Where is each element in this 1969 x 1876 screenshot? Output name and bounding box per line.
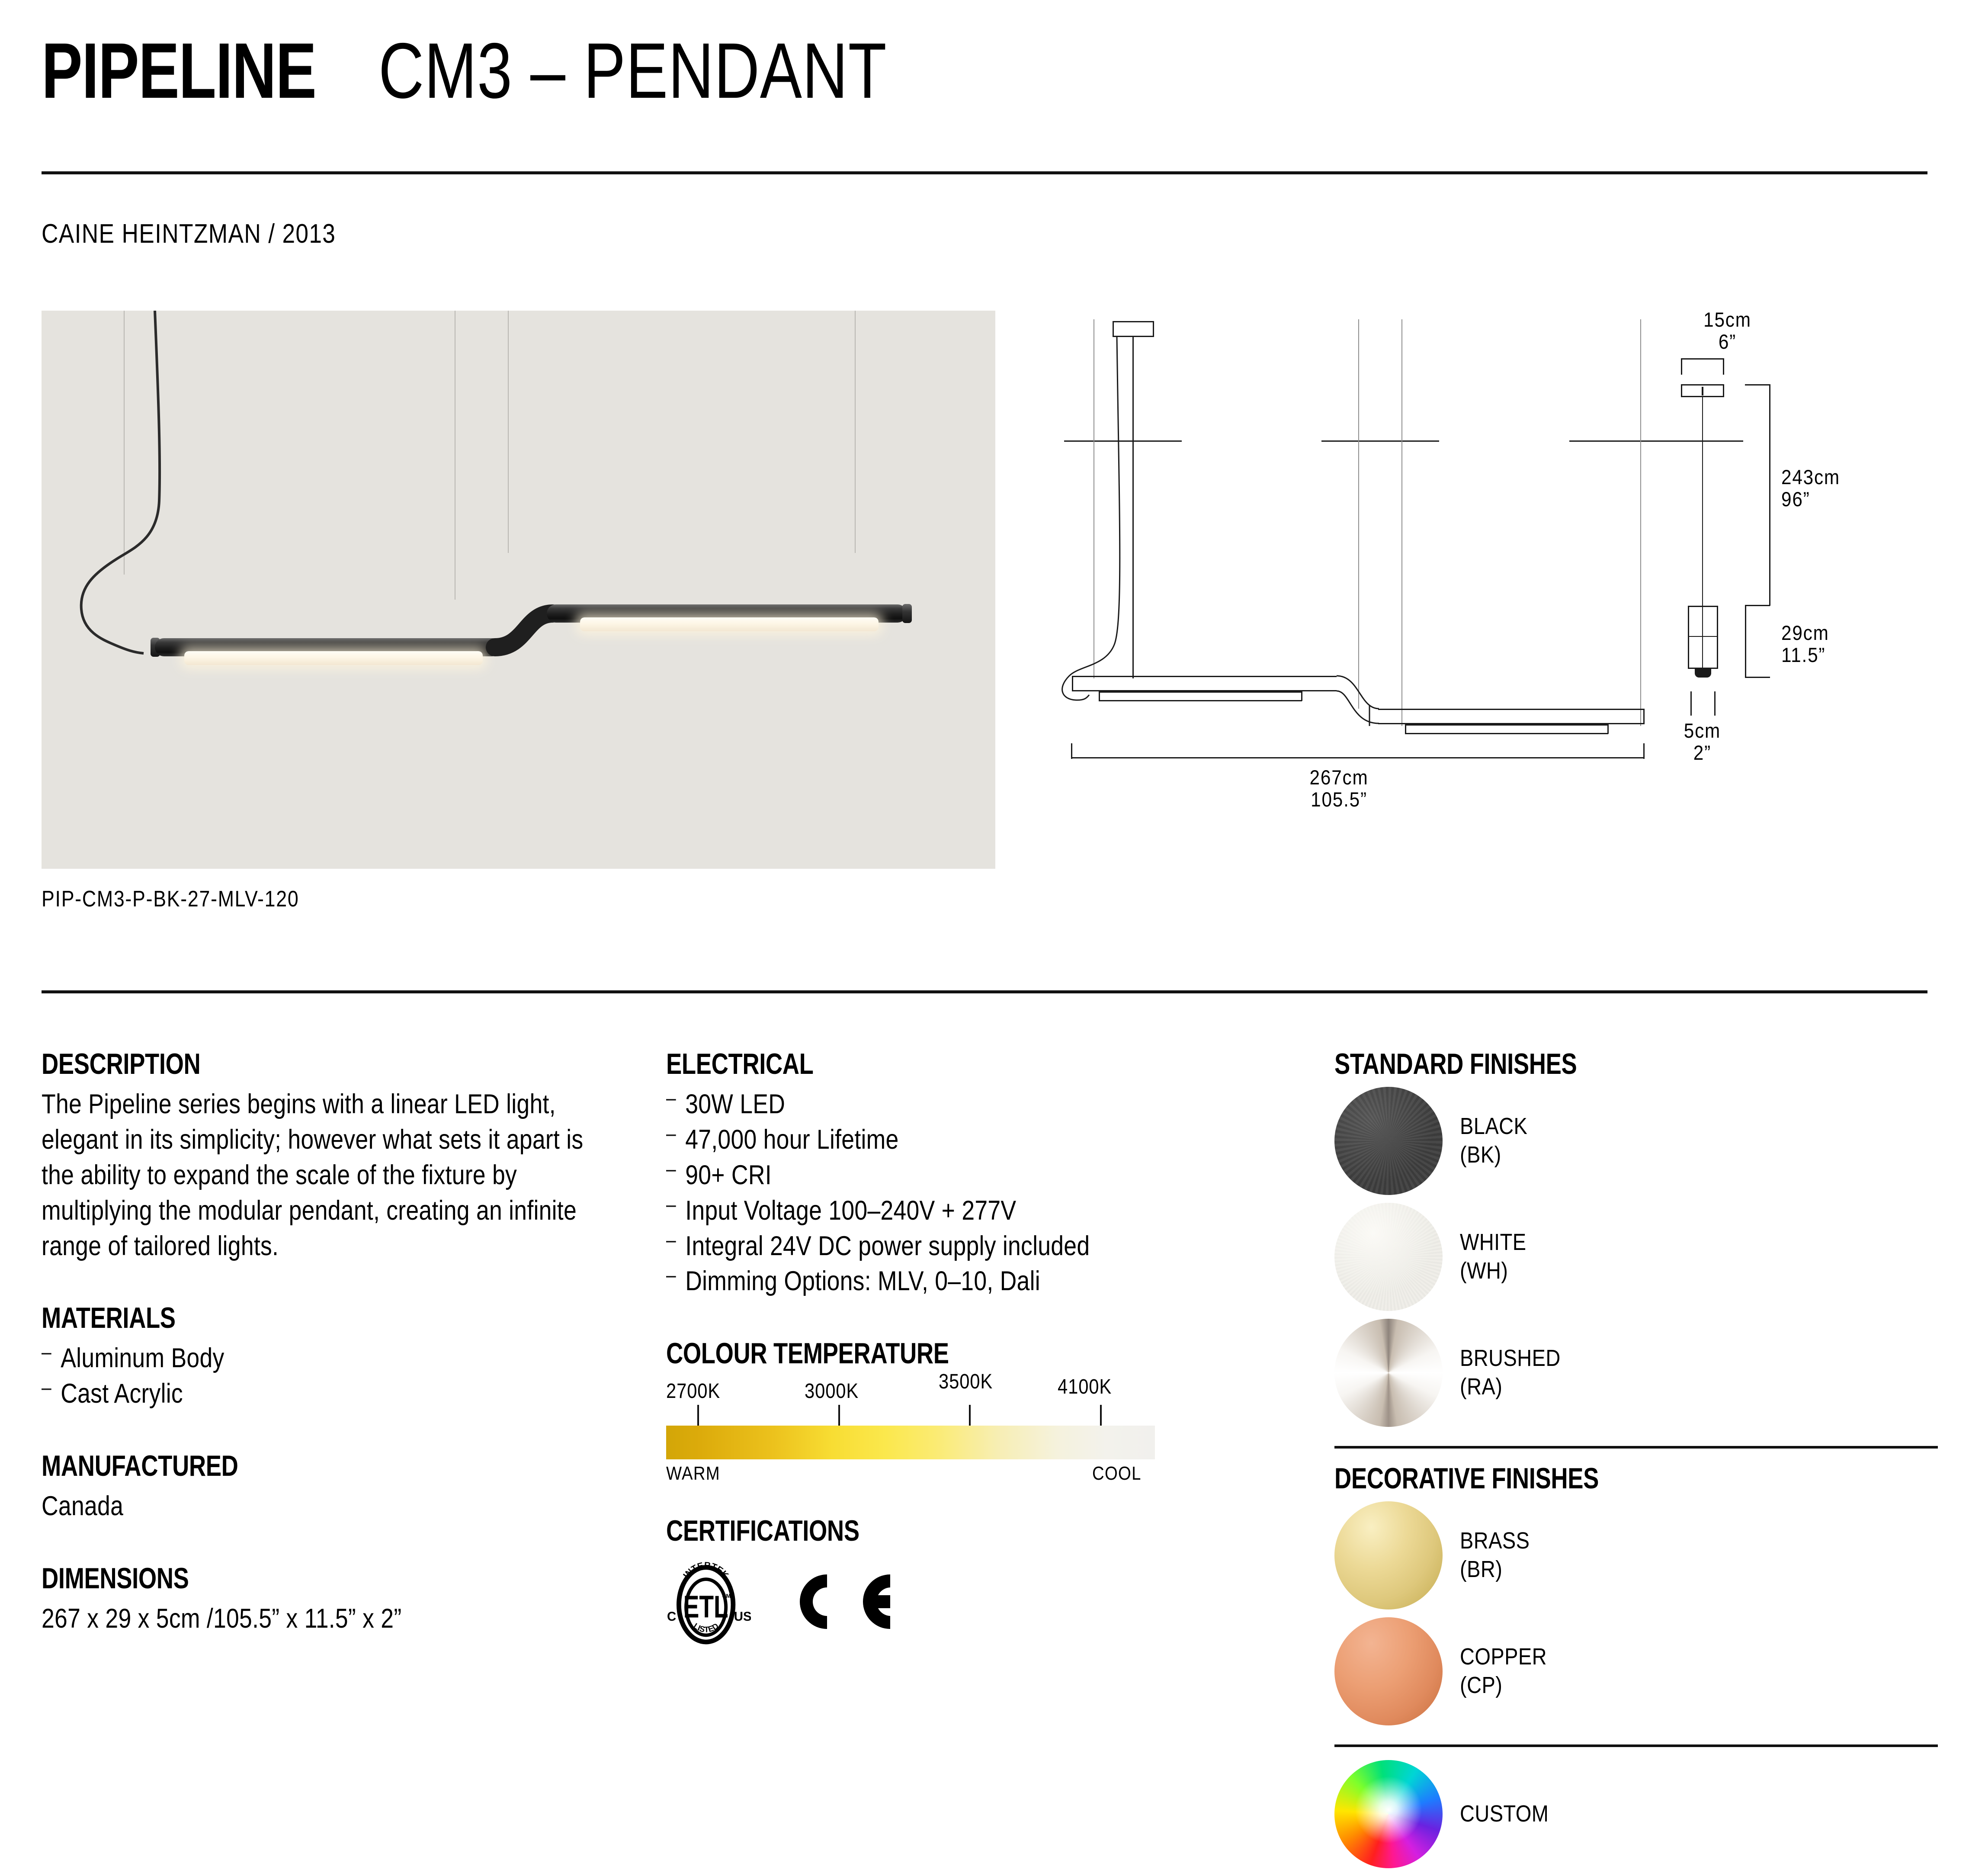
product-model-name: CM3 – PENDANT [378,25,887,116]
finish-swatch-brass[interactable]: BRASS (BR) [1334,1501,1637,1609]
finish-label: BRUSHED (RA) [1460,1344,1561,1401]
colour-temperature-labels: 2700K 3000K 3500K 4100K [666,1376,1155,1403]
finish-label: BLACK (BK) [1460,1112,1527,1169]
ce-mark-icon [781,1569,898,1634]
manufactured-heading: MANUFACTURED [42,1449,505,1483]
dimension-label-depth: 5cm 2” [1684,720,1721,764]
finish-swatch-black[interactable]: BLACK (BK) [1334,1087,1637,1195]
diffuser-outline-right [1405,733,1608,734]
custom-divider [1334,1744,1938,1747]
warm-label: WARM [666,1463,720,1484]
standard-finishes-heading: STANDARD FINISHES [1334,1047,1817,1081]
colour-temperature-heading: COLOUR TEMPERATURE [666,1336,1161,1370]
swatch-brushed-icon [1334,1319,1443,1427]
fixture-outline-side [1688,636,1718,637]
colour-temperature-scale: 2700K 3000K 3500K 4100K WARM COOL [666,1376,1155,1490]
ct-label: 4100K [1058,1375,1112,1399]
dimension-label-canopy: 15cm 6” [1703,309,1751,353]
finish-label: COPPER (CP) [1460,1643,1547,1700]
electrical-heading: ELECTRICAL [666,1047,1161,1081]
header-divider [42,171,1927,174]
colour-temperature-gradient-bar [666,1426,1155,1459]
fixture-outline-right [1643,709,1645,724]
column-finishes: STANDARD FINISHES BLACK (BK) WHITE (WH) [1334,1047,1938,1876]
dimension-tick [1714,691,1716,716]
materials-list: Aluminum Body Cast Acrylic [42,1341,621,1412]
dimension-tick [1745,677,1770,678]
fixture-outline-side [1688,606,1689,668]
fixture-outline-side [1695,669,1711,678]
fixture-outline-side [1688,606,1718,607]
list-item: 47,000 hour Lifetime [666,1122,1304,1158]
dimension-line-drop [1769,384,1770,606]
dimensions-heading: DIMENSIONS [42,1561,505,1595]
certification-marks: INTERTEK LISTED ETL CM C US [666,1557,1285,1646]
diffuser-outline-right [1405,724,1608,726]
list-item: 30W LED [666,1087,1304,1122]
canopy-outline [1723,384,1724,397]
bend-outline [1038,303,1773,779]
dimension-label-fixture: 29cm 11.5” [1781,622,1829,666]
suspension-wire [1702,397,1703,674]
diffuser-outline-right [1607,724,1609,734]
finish-swatch-copper[interactable]: COPPER (CP) [1334,1617,1637,1725]
section-divider [42,990,1927,993]
svg-text:ETL: ETL [683,1589,728,1624]
dimension-tick [1745,605,1770,606]
svg-text:US: US [734,1609,751,1624]
electrical-list: 30W LED 47,000 hour Lifetime 90+ CRI Inp… [666,1087,1285,1299]
page-title: PIPELINECM3 – PENDANT [42,25,1014,116]
finish-swatch-brushed[interactable]: BRUSHED (RA) [1334,1319,1637,1427]
finish-label: CUSTOM [1460,1800,1549,1828]
dimension-tick [1745,384,1770,385]
list-item: Aluminum Body [42,1341,640,1376]
sku-code: PIP-CM3-P-BK-27-MLV-120 [42,886,299,912]
svg-text:CM: CM [722,1593,731,1600]
manufactured-value: Canada [42,1489,621,1524]
cool-label: COOL [1092,1463,1142,1484]
finish-label: WHITE (WH) [1460,1228,1526,1285]
swatch-black-icon [1334,1087,1443,1195]
description-heading: DESCRIPTION [42,1047,505,1081]
ct-label: 3500K [939,1370,993,1394]
dimension-label-width: 267cm 105.5” [1310,767,1369,811]
dimension-tick [1723,358,1724,375]
dimension-line-canopy [1681,358,1724,360]
lamp-diffuser-right [580,617,879,631]
dimensions-value: 267 x 29 x 5cm /105.5” x 11.5” x 2” [42,1601,621,1637]
certifications-heading: CERTIFICATIONS [666,1514,1161,1548]
custom-finish-grid: CUSTOM [1334,1760,1938,1876]
drop-rod [1702,387,1703,395]
canopy-outline [1681,384,1724,385]
finish-swatch-white[interactable]: WHITE (WH) [1334,1203,1637,1311]
fixture-outline-side [1717,606,1718,668]
dimension-tick [1071,743,1072,759]
standard-finishes-grid: BLACK (BK) WHITE (WH) BRUSHED (RA) [1334,1087,1938,1435]
lamp-bend [42,311,995,869]
list-item: Integral 24V DC power supply included [666,1229,1304,1264]
dimension-line-fixture [1745,606,1746,678]
swatch-white-icon [1334,1203,1443,1311]
swatch-brass-icon [1334,1501,1443,1609]
materials-heading: MATERIALS [42,1301,505,1335]
dimension-tick [1690,691,1692,716]
list-item: 90+ CRI [666,1158,1304,1193]
fixture-outline-right [1378,709,1645,710]
list-item: Input Voltage 100–240V + 277V [666,1193,1304,1229]
description-text: The Pipeline series begins with a linear… [42,1087,621,1264]
decorative-finishes-heading: DECORATIVE FINISHES [1334,1462,1817,1495]
technical-drawing: 267cm 105.5” 15cm 6” 243c [1038,303,1929,874]
colour-temperature-endpoints: WARM COOL [666,1463,1155,1490]
column-description: DESCRIPTION The Pipeline series begins w… [42,1047,621,1637]
list-item: Cast Acrylic [42,1376,640,1412]
dimension-tick [1681,358,1682,375]
diffuser-outline-right [1405,724,1406,734]
designer-byline: CAINE HEINTZMAN / 2013 [42,218,336,249]
colour-temperature-ticks [666,1403,1155,1426]
svg-text:C: C [667,1609,676,1624]
dimension-tick [1643,743,1645,759]
dimension-label-drop: 243cm 96” [1781,466,1840,511]
product-photo [42,311,995,869]
ceiling-line [1661,440,1743,442]
finish-label: BRASS (BR) [1460,1527,1530,1584]
finishes-divider [1334,1446,1938,1449]
canopy-outline [1681,384,1682,397]
lamp-end-cap [902,604,912,623]
ct-label: 2700K [666,1379,720,1403]
ct-label: 3000K [805,1379,859,1403]
etl-intertek-listed-icon: INTERTEK LISTED ETL CM C US [666,1557,751,1646]
svg-text:INTERTEK: INTERTEK [681,1561,731,1580]
product-family-name: PIPELINE [42,25,316,116]
dimension-line-width [1071,757,1645,758]
swatch-copper-icon [1334,1617,1443,1725]
decorative-finishes-grid: BRASS (BR) COPPER (CP) [1334,1501,1938,1733]
list-item: Dimming Options: MLV, 0–10, Dali [666,1264,1304,1299]
column-electrical: ELECTRICAL 30W LED 47,000 hour Lifetime … [666,1047,1285,1646]
spec-sheet: PIPELINECM3 – PENDANT CAINE HEINTZMAN / … [0,0,1969,1852]
